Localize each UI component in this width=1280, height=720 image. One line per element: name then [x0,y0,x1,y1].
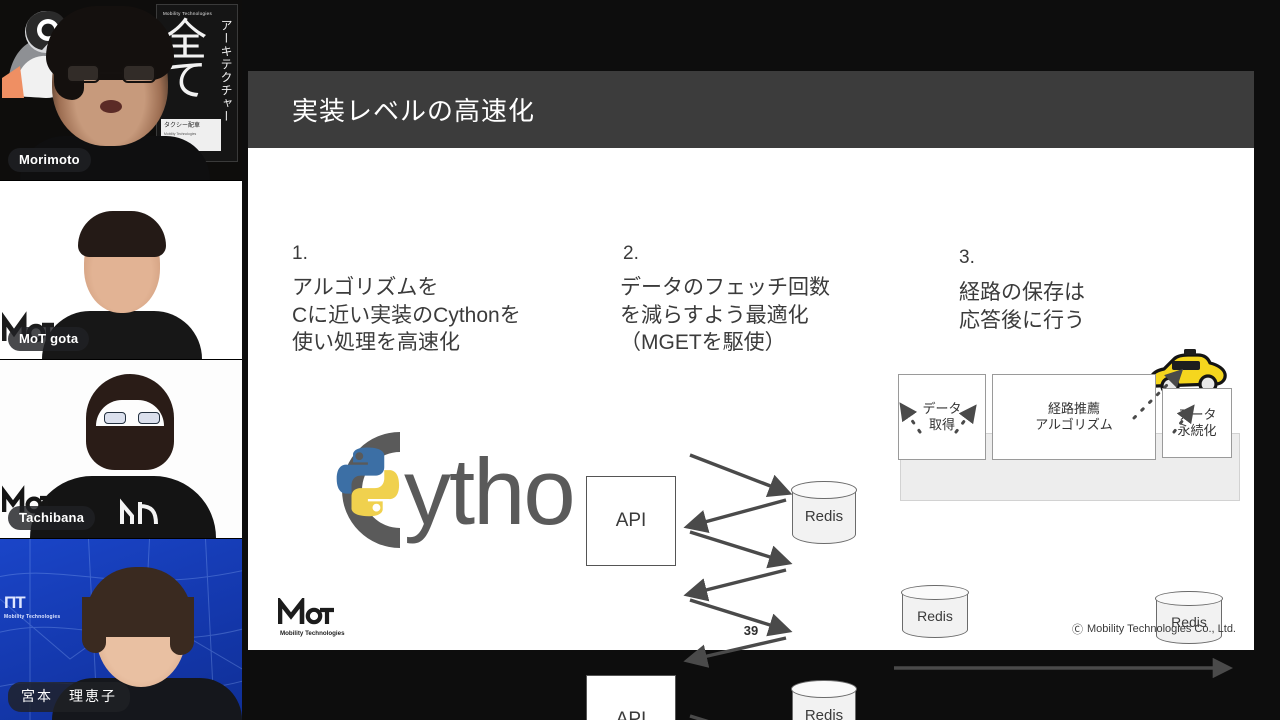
screen-root: Mobility Technologies 全て アーキテクチャー タクシー配車… [0,0,1280,720]
column-1-text: アルゴリズムを Cに近い実装のCythonを 使い処理を高速化 [292,274,521,357]
name-tag-tachibana: Tachibana [8,506,95,530]
diagram-arrows [578,398,878,720]
copyright-mark-icon: Ⓒ [1072,621,1083,637]
column-3-number: 3. [959,247,975,269]
column-3-text: 経路の保存は 応答後に行う [959,279,1085,334]
copyright-notice: Ⓒ Mobility Technologies Co., Ltd. [1072,621,1236,637]
name-tag-mot-gota: MoT gota [8,327,89,351]
participant-mouth [100,100,122,113]
video-participant-strip: Mobility Technologies 全て アーキテクチャー タクシー配車… [0,0,242,720]
right-diagram: お客様探索ナビAPI データ 取得 経路推薦 アルゴリズム データ 永続化 Re… [888,348,1244,718]
video-tile-tachibana[interactable]: Tachibana [0,360,242,538]
right-diagram-arrows [888,348,1244,718]
video-tile-miyamoto[interactable]: ΠTMobility Technologies 宮本 理恵子 [0,539,242,720]
copyright-text: Mobility Technologies Co., Ltd. [1087,623,1236,635]
shirt-logo-icon [118,498,160,526]
glasses-icon [66,64,156,83]
slide-title-bar: 実装レベルの高速化 [248,71,1254,148]
slide-title: 実装レベルの高速化 [292,91,535,128]
column-1-number: 1. [292,243,308,265]
middle-diagram: API API Redis Redis [578,398,878,718]
video-tile-morimoto[interactable]: Mobility Technologies 全て アーキテクチャー タクシー配車… [0,0,242,180]
participant-hair [78,211,166,257]
presentation-slide: 実装レベルの高速化 1. アルゴリズムを Cに近い実装のCythonを 使い処理… [248,71,1254,650]
cython-logo: ython [288,420,578,560]
glasses-icon [104,412,160,424]
svg-text:ython: ython [404,439,578,544]
video-tile-mot-gota[interactable]: MoT gota [0,181,242,359]
poster-band-title: タクシー配車 [161,119,221,131]
column-2-number: 2. [623,243,639,265]
mot-watermark-logo: ΠTMobility Technologies [4,593,60,620]
poster-title-vertical: アーキテクチャー [218,19,232,123]
column-2-text: データのフェッチ回数 を減らすよう最適化 （MGETを駆使） [620,274,830,357]
name-tag-miyamoto: 宮本 理恵子 [8,682,130,712]
mot-watermark-sub: Mobility Technologies [4,614,60,620]
name-tag-morimoto: Morimoto [8,148,91,172]
slide-body: 1. アルゴリズムを Cに近い実装のCythonを 使い処理を高速化 2. デー… [248,148,1254,650]
